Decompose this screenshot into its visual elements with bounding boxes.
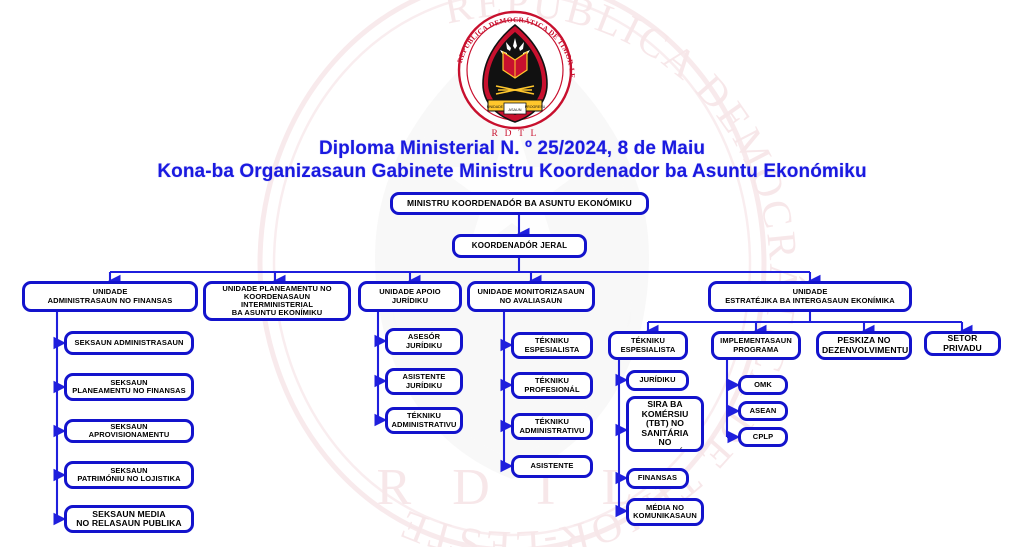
- node-media-komunikasaun[interactable]: MÉDIA NO KOMUNIKASAUN: [626, 498, 704, 526]
- node-implementasaun-programa[interactable]: IMPLEMENTASAUN PROGRAMA: [711, 331, 801, 360]
- node-seksaun-aprovisionamentu-label: SEKSAUN APROVISIONAMENTU: [70, 423, 188, 439]
- node-tekniku-espesialista-monitor[interactable]: TÉKNIKU ESPESIALISTA: [511, 332, 593, 359]
- node-omk-label: OMK: [744, 381, 782, 389]
- node-juridiku-label: JURÍDIKU: [632, 376, 683, 384]
- node-seksaun-administrasaun[interactable]: SEKSAUN ADMINISTRASAUN: [64, 331, 194, 355]
- node-asean[interactable]: ASEAN: [738, 401, 788, 421]
- node-coordinator-general[interactable]: KOORDENADÓR JERAL: [452, 234, 587, 258]
- organogram-canvas: REPÚBLICA DEMOCRÁTICA DE TIMOR-LESTE R D…: [0, 0, 1024, 547]
- node-seksaun-media-relasaun-publika[interactable]: SEKSAUN MEDIA NO RELASAUN PUBLIKA: [64, 505, 194, 533]
- node-minister[interactable]: MINISTRU KOORDENADÓR BA ASUNTU EKONÓMIKU: [390, 192, 649, 215]
- node-seksaun-planeamentu-finansas[interactable]: SEKSAUN PLANEAMENTU NO FINANSAS: [64, 373, 194, 401]
- node-cplp-label: CPLP: [744, 433, 782, 441]
- node-tekniku-espesialista-estratejika[interactable]: TÉKNIKU ESPESIALISTA: [608, 331, 688, 360]
- node-minister-label: MINISTRU KOORDENADÓR BA ASUNTU EKONÓMIKU: [396, 199, 643, 208]
- node-seksaun-media-line2: NO RELASAUN PUBLIKA: [70, 519, 188, 528]
- node-tek-prof-line2: PROFESIONÁL: [517, 386, 587, 394]
- svg-text:R D T L: R D T L: [492, 129, 539, 139]
- node-tekniku-adm-jur-line2: ADMINISTRATIVU: [391, 421, 457, 429]
- node-cplp[interactable]: CPLP: [738, 427, 788, 447]
- node-seksaun-patrimoniu-lojistika[interactable]: SEKSAUN PATRIMÓNIU NO LOJISTIKA: [64, 461, 194, 489]
- node-barriera-line3: (TBT) NO SANITÁRIA: [632, 419, 698, 438]
- node-seksaun-patrimoniu-line2: PATRIMÓNIU NO LOJISTIKA: [70, 475, 188, 483]
- coat-of-arms-icon: REPÚBLICA DEMOCRÁTICA DE TIMOR-LESTE UNI…: [448, 8, 582, 142]
- node-impl-prog-line2: PROGRAMA: [717, 346, 795, 354]
- node-seksaun-planeamentu-line2: PLANEAMENTU NO FINANSAS: [70, 387, 188, 395]
- node-asistente-monitor[interactable]: ASISTENTE: [511, 455, 593, 478]
- node-tek-adm-mon-line2: ADMINISTRATIVU: [517, 427, 587, 435]
- node-seksaun-aprovisionamentu[interactable]: SEKSAUN APROVISIONAMENTU: [64, 419, 194, 443]
- node-omk[interactable]: OMK: [738, 375, 788, 395]
- unit-monitorizasaun-avaliasaun[interactable]: UNIDADE MONITORIZASAUN NO AVALIASAUN: [467, 281, 595, 312]
- node-asesor-juridiku-line2: JURÍDIKU: [391, 342, 457, 350]
- node-media-line2: KOMUNIKASAUN: [632, 512, 698, 520]
- title-line-2: Kona-ba Organizasaun Gabinete Ministru K…: [0, 160, 1024, 183]
- node-asistente-monitor-label: ASISTENTE: [517, 462, 587, 470]
- unit-estratejika-line2: ESTRATÉJIKA BA INTERGASAUN EKONÍMIKA: [714, 297, 906, 305]
- node-asistente-juridiku[interactable]: ASISTENTE JURÍDIKU: [385, 368, 463, 395]
- unit-plan-line2: KOORDENASAUN INTERMINISTERIAL: [209, 293, 345, 309]
- unit-estratejika-intergasaun[interactable]: UNIDADE ESTRATÉJIKA BA INTERGASAUN EKONÍ…: [708, 281, 912, 312]
- unit-planeamentu-koordenasaun[interactable]: UNIDADE PLANEAMENTU NO KOORDENASAUN INTE…: [203, 281, 351, 321]
- node-finansas-label: FINANSAS: [632, 474, 683, 482]
- node-finansas[interactable]: FINANSAS: [626, 468, 689, 489]
- unit-monitor-line2: NO AVALIASAUN: [473, 297, 589, 305]
- node-coordinator-general-label: KOORDENADÓR JERAL: [458, 242, 581, 251]
- node-barriera-line4: NO FITOSANITÁRIA: [632, 438, 698, 452]
- node-setor-privadu-label: SETOR PRIVADU: [930, 334, 995, 353]
- node-tekniku-profesional[interactable]: TÉKNIKU PROFESIONÁL: [511, 372, 593, 399]
- svg-text:ASAUN: ASAUN: [508, 108, 521, 112]
- node-peskiza-dezenvolvimentu[interactable]: PESKIZA NO DEZENVOLVIMENTU: [816, 331, 912, 360]
- node-tek-esp-mon-line2: ESPESIALISTA: [517, 346, 587, 354]
- node-tekniku-administrativu-juridiku[interactable]: TÉKNIKU ADMINISTRATIVU: [385, 407, 463, 434]
- node-setor-privadu[interactable]: SETOR PRIVADU: [924, 331, 1001, 356]
- unit-administrasaun-no-finansas[interactable]: UNIDADE ADMINISTRASAUN NO FINANSAS: [22, 281, 198, 312]
- node-asistente-juridiku-line2: JURÍDIKU: [391, 382, 457, 390]
- node-peskiza-line2: DEZENVOLVIMENTU: [822, 346, 906, 355]
- unit-plan-line3: BA ASUNTU EKONÍMIKU: [209, 309, 345, 317]
- unit-admin-line2: ADMINISTRASAUN NO FINANSAS: [28, 297, 192, 305]
- node-asesor-juridiku[interactable]: ASESÓR JURÍDIKU: [385, 328, 463, 355]
- unit-juridiku-line2: JURÍDIKU: [364, 297, 456, 305]
- node-barriera-line2: SIRA BA KOMÉRSIU: [632, 400, 698, 419]
- node-juridiku[interactable]: JURÍDIKU: [626, 370, 689, 391]
- unit-apoio-juridiku[interactable]: UNIDADE APOIO JURÍDIKU: [358, 281, 462, 312]
- document-title: Diploma Ministerial N. º 25/2024, 8 de M…: [0, 138, 1024, 183]
- node-seksaun-administrasaun-label: SEKSAUN ADMINISTRASAUN: [70, 339, 188, 347]
- node-barriera-tekniku-tbt-sps[interactable]: BARRIERA TÉKNIKU SIRA BA KOMÉRSIU (TBT) …: [626, 396, 704, 452]
- svg-text:PROGRESU: PROGRESU: [525, 105, 546, 109]
- node-asean-label: ASEAN: [744, 407, 782, 415]
- svg-text:UNIDADE: UNIDADE: [487, 105, 504, 109]
- node-tek-esp-str-line2: ESPESIALISTA: [614, 346, 682, 354]
- node-tekniku-administrativu-monitor[interactable]: TÉKNIKU ADMINISTRATIVU: [511, 413, 593, 440]
